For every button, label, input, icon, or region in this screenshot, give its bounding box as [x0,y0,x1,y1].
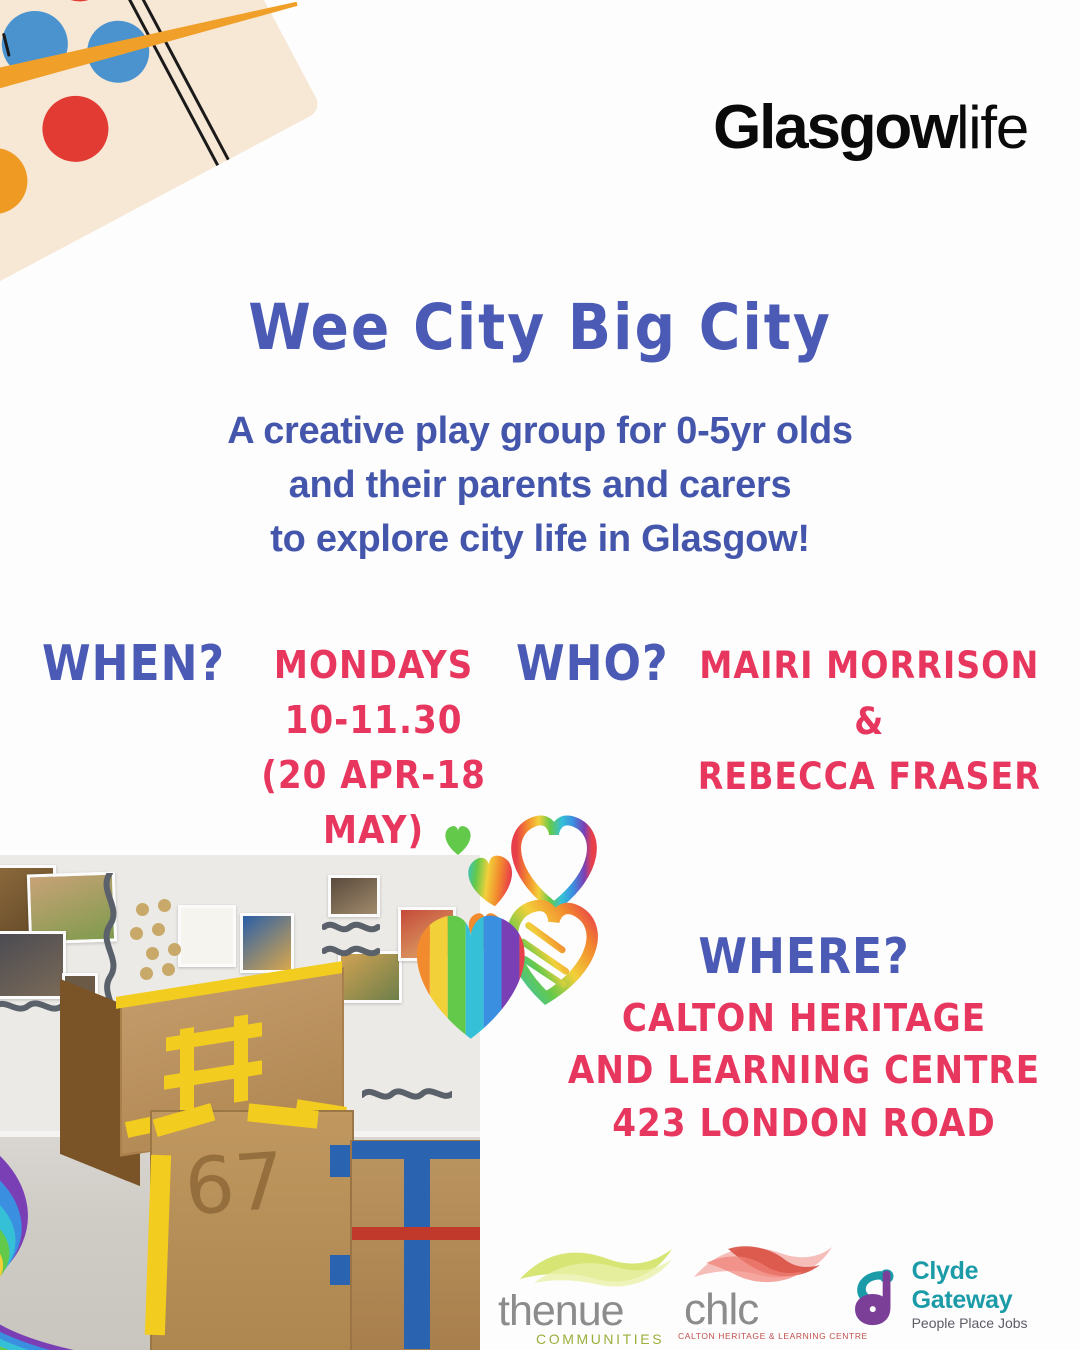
clyde-gateway-mark-icon [852,1261,906,1333]
drawn-number: 67 [182,1137,287,1234]
poster-canvas: Glasgow life Wee City Big City A creativ… [0,0,1080,1350]
where-line-2: AND LEARNING CENTRE [548,1044,1060,1096]
thenue-tagline: COMMUNITIES [536,1331,664,1347]
who-label: WHO? [516,638,669,689]
page-title: Wee City Big City [0,296,1080,359]
subtitle-line-2: and their parents and carers [0,459,1080,513]
chlc-logo: chlc CALTON HERITAGE & LEARNING CENTRE [678,1247,830,1347]
rainbow-wave-icon [0,1123,182,1350]
where-label: WHERE? [548,930,1060,984]
thenue-wordmark: thenue [498,1287,624,1336]
when-line-2: 10-11.30 [235,693,512,748]
thenue-communities-logo: thenue COMMUNITIES [496,1247,656,1347]
who-line-3: REBECCA FRASER [679,749,1060,805]
squiggle-icon [322,917,380,963]
clyde-gateway-logo: Clyde Gateway People Place Jobs [852,1247,1062,1347]
who-block: WHO? MAIRI MORRISON & REBECCA FRASER [516,638,1060,805]
when-label: WHEN? [42,638,225,689]
glasgow-life-logo-main: Glasgow [713,92,956,163]
glasgow-life-logo: Glasgow life [713,92,1028,163]
partner-logos: thenue COMMUNITIES chlc CALTON HERITAGE … [496,1243,1062,1347]
glasgow-life-logo-sub: life [956,93,1028,162]
where-block: WHERE? CALTON HERITAGE AND LEARNING CENT… [548,930,1060,1149]
where-line-1: CALTON HERITAGE [548,992,1060,1044]
squiggle-icon [362,1083,452,1105]
where-line-3: 423 LONDON ROAD [548,1097,1060,1149]
page-subtitle: A creative play group for 0-5yr olds and… [0,405,1080,567]
rainbow-hearts-icon [392,808,622,1043]
who-value: MAIRI MORRISON & REBECCA FRASER [669,638,1060,805]
subtitle-line-3: to explore city life in Glasgow! [0,513,1080,567]
chlc-swoosh-icon [684,1243,834,1291]
clyde-gateway-wordmark: Clyde Gateway [912,1257,1062,1315]
chlc-wordmark: chlc [684,1285,758,1335]
thenue-swoosh-icon [516,1245,676,1293]
when-line-1: MONDAYS [235,638,512,693]
where-value: CALTON HERITAGE AND LEARNING CENTRE 423 … [548,992,1060,1149]
clyde-gateway-tagline: People Place Jobs [912,1315,1062,1331]
who-line-1: MAIRI MORRISON [679,638,1060,694]
subtitle-line-1: A creative play group for 0-5yr olds [0,405,1080,459]
chlc-tagline: CALTON HERITAGE & LEARNING CENTRE [678,1331,868,1341]
who-line-2: & [679,694,1060,750]
